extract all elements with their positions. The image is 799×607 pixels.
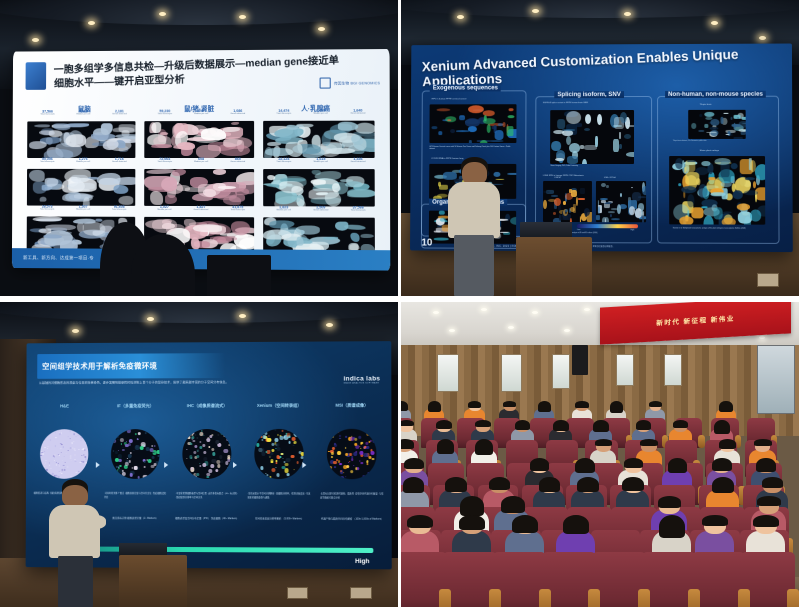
micrograph-speckle (502, 123, 505, 127)
attendee-hair (712, 477, 734, 493)
micrograph-speckle (610, 214, 611, 218)
cell-dot (58, 465, 60, 467)
cell-dot (187, 436, 190, 439)
micrograph-speckle (558, 120, 566, 130)
micrograph-speckle (737, 204, 750, 211)
micrograph-speckle (450, 130, 455, 134)
slide-footer-text: 新工具、新方向、达成第一项目·专 (23, 256, 94, 262)
attendee-hair (719, 439, 736, 449)
cell-dot (375, 467, 377, 471)
micrograph-speckle (597, 115, 602, 126)
cell-dot (353, 452, 357, 456)
attendee-hair (649, 401, 662, 407)
cell-dot (45, 430, 46, 431)
cell-dot (208, 446, 210, 448)
cell-dot (85, 433, 87, 435)
micrograph-speckle (741, 131, 746, 136)
cell-dot (127, 429, 130, 432)
cell-dot (193, 451, 196, 454)
cell-dot (45, 459, 47, 461)
metric-label: Genes detected (350, 113, 365, 116)
cell-dot (294, 441, 297, 444)
tissue-image (263, 121, 374, 158)
cell-dot (151, 455, 154, 458)
micrograph-speckle (703, 216, 713, 225)
presenter-arm-pointing (81, 515, 106, 529)
cell-dot (49, 464, 50, 465)
cell-dot (203, 451, 206, 454)
attendee-hair (468, 401, 481, 408)
cell-dot (194, 445, 197, 448)
cell-dot (328, 469, 332, 473)
cell-dot (83, 472, 85, 474)
attendee-hair (515, 420, 530, 430)
image-hpv-cervical (429, 105, 516, 144)
metric-label: Total transcripts (40, 161, 54, 164)
tissue-cell: 72,064Total transcripts608Median per cel… (144, 162, 254, 206)
metric-label: Total transcripts (112, 209, 126, 212)
micrograph-speckle (679, 217, 693, 225)
tissue-blob (231, 122, 239, 125)
cell-dot (373, 439, 377, 443)
cell-dot (284, 468, 288, 472)
cell-dot (43, 450, 44, 451)
cell-dot (197, 473, 200, 476)
metric-value: 1,086Genes detected (230, 109, 245, 116)
cell-dot (255, 472, 256, 473)
micrograph-speckle (631, 187, 633, 189)
cell-dot (201, 430, 202, 431)
micrograph-speckle (733, 191, 743, 200)
presenter-arm (476, 190, 499, 208)
tissue-blob (29, 171, 45, 183)
cell-dot (275, 475, 277, 477)
cell-dot (270, 475, 272, 477)
cell-dot (337, 451, 341, 455)
micrograph-speckle (508, 174, 517, 176)
cell-dot (203, 457, 207, 461)
cell-dot (69, 431, 70, 432)
micrograph-speckle (494, 131, 503, 140)
window (552, 354, 570, 390)
micrograph-speckle (438, 132, 442, 136)
cell-dot (117, 438, 119, 440)
metric-value: 55,056Total transcripts (40, 157, 54, 164)
tissue-blob (351, 233, 360, 242)
metric-label: Total transcripts (230, 210, 245, 213)
tissue-blob (268, 175, 276, 180)
cell-dot (131, 467, 132, 468)
metric-value: 2,181Genes detected (112, 109, 127, 116)
attendee-hair (407, 515, 433, 529)
cell-dot (85, 442, 86, 443)
cell-dot (209, 435, 212, 438)
cell-dot (54, 459, 55, 460)
cell-dot (189, 455, 192, 458)
projection-screen[interactable]: 传因生物 BGI GENOMICS 一胞多组学多信息共检—升级后数据展示—med… (12, 49, 391, 271)
micrograph-speckle (619, 193, 622, 198)
attendee-hair (595, 439, 612, 446)
cell-dot (41, 451, 42, 452)
attendee-hair (553, 420, 568, 431)
presenter-trousers (454, 235, 493, 296)
metric-value: 1,499Median per cell (314, 109, 328, 116)
tissue-blob (235, 188, 250, 195)
tissue-blob (112, 128, 134, 133)
micrograph-speckle (551, 195, 558, 197)
slide-title: 空间组学技术用于解析免疫微环境 (37, 360, 157, 371)
cell-dot (61, 432, 62, 434)
seat-armrest (439, 589, 451, 607)
cell-dot (360, 448, 361, 449)
window (501, 354, 523, 393)
cell-dot (144, 472, 145, 473)
attendee-hair (753, 515, 779, 527)
bullet-column: ·无需标记即可检测代谢物、脂质等 ·提供空间代谢分布图谱 ·与形态学数据可联合分… (320, 493, 384, 539)
cell-dot (55, 437, 56, 438)
cell-dot (84, 475, 85, 476)
image-tilapia-brain (688, 111, 746, 140)
cell-dot (43, 441, 44, 442)
cell-dot (152, 474, 153, 475)
attendee-hair (501, 496, 525, 513)
cell-dot (61, 459, 62, 460)
image-loh6-wt (543, 181, 593, 223)
cell-dot (85, 457, 87, 459)
metric-label: Median per cell (314, 113, 328, 116)
micrograph-speckle (678, 183, 681, 186)
tissue-cell: 59,230Total transcripts895Median per cel… (144, 114, 254, 158)
window (664, 354, 682, 387)
tissue-blob (332, 184, 340, 193)
cell-dot (73, 440, 74, 441)
cell-dot (60, 447, 62, 449)
metric-value: 1,716Genes detected (112, 157, 127, 164)
attendee-hair (754, 439, 771, 446)
micrograph-speckle (605, 219, 606, 223)
cell-dot (62, 471, 63, 472)
cell-dot (55, 464, 57, 466)
cell-dot (46, 474, 48, 476)
attendee-hair (403, 477, 425, 493)
attendee-hair (624, 458, 644, 468)
cell-dot (48, 461, 50, 463)
micrograph-speckle (691, 208, 703, 219)
slide-title-bar: 空间组学技术用于解析免疫微环境 (37, 353, 225, 379)
cell-dot (70, 476, 71, 477)
cell-dot (331, 472, 335, 476)
cell-dot (54, 445, 56, 447)
micrograph-speckle (562, 201, 566, 205)
attendee-hair (563, 515, 589, 534)
cell-dot (208, 469, 212, 473)
micrograph-speckle (566, 111, 580, 124)
ceiling-light (481, 308, 487, 311)
metric-label: Median per cell (194, 162, 208, 165)
cell-dot (84, 432, 85, 433)
micrograph-speckle (722, 218, 736, 225)
wall-vent (757, 273, 779, 287)
micrograph-speckle (685, 160, 695, 172)
cell-dot (227, 459, 230, 462)
cell-dot (184, 430, 187, 433)
cell-dot (339, 463, 342, 466)
cell-dot (301, 444, 303, 446)
micrograph-speckle (568, 190, 572, 193)
banner-text: 新时代 新征程 新伟业 (656, 313, 734, 328)
tissue-blob (32, 217, 62, 222)
caption-maize: Maize plant embryo (700, 150, 719, 153)
tissue-blob (335, 222, 348, 231)
cell-dot (50, 476, 52, 478)
cell-dot (211, 459, 215, 463)
cell-dot (118, 465, 120, 467)
podium (516, 237, 592, 296)
tissue-blob (165, 196, 177, 205)
tissue-blob (285, 142, 302, 156)
micrograph-speckle (704, 112, 714, 117)
downlight (318, 27, 325, 31)
tissue-blob (73, 219, 96, 224)
metric-label: Total transcripts (276, 113, 291, 116)
metric-value: 1,615Median per cell (314, 157, 328, 164)
metric-value: 14,474Total transcripts (276, 109, 291, 116)
cell-dot (354, 437, 357, 440)
metric-value: 7,562Median per cell (76, 109, 90, 116)
ceiling-curve (0, 0, 398, 25)
cell-dot (192, 439, 195, 442)
presenter-head (62, 485, 87, 507)
cell-dot (122, 446, 124, 448)
cell-dot (189, 441, 192, 444)
metric-label: Genes detected (350, 162, 365, 165)
micrograph-speckle (606, 185, 608, 189)
cell-dot (343, 472, 344, 473)
metric-value: 865Genes detected (230, 157, 245, 164)
cell-dot (267, 438, 271, 442)
window (437, 354, 459, 393)
metric-value: 59,230Total transcripts (158, 109, 172, 116)
cell-dot (275, 429, 277, 431)
micrograph-speckle (731, 164, 738, 170)
cell-dot (45, 436, 46, 437)
cell-dot (228, 474, 232, 478)
cell-dot (157, 468, 159, 470)
cell-dot (362, 475, 365, 478)
cell-dot (120, 438, 124, 442)
cell-dot (349, 453, 352, 456)
micrograph-speckle (731, 117, 733, 120)
panel-bottom-left-slide-immune[interactable]: 空间组学技术用于解析免疫微环境 从基础的对细胞形态的观察与位置的简单染色，逐步发… (0, 302, 398, 607)
cell-dot (75, 459, 76, 460)
doorway (757, 345, 795, 414)
cell-dot (270, 460, 272, 462)
micrograph-speckle (750, 210, 762, 222)
image-gbm-brain (550, 111, 634, 165)
cell-dot (78, 449, 79, 450)
cell-dot (54, 454, 55, 456)
cell-dot (186, 458, 187, 459)
cell-dot (373, 435, 377, 439)
cell-dot (129, 460, 131, 462)
cell-dot (186, 448, 187, 449)
metric-value: 37,566Total transcripts (351, 206, 366, 213)
cell-dot (74, 450, 75, 451)
cell-dot (228, 443, 230, 445)
attendee-hair (539, 477, 561, 492)
cell-dot (202, 444, 205, 447)
metric-label: Total transcripts (40, 209, 54, 212)
cell-dot (331, 456, 333, 458)
cell-dot (293, 431, 296, 434)
micrograph-speckle (554, 198, 561, 206)
micrograph-speckle (613, 139, 619, 152)
cell-dot (262, 435, 266, 439)
cell-dot (47, 432, 48, 433)
micrograph-speckle (469, 140, 472, 144)
micrograph-speckle (704, 124, 708, 128)
cell-dot (115, 451, 117, 453)
cell-dot (64, 469, 66, 471)
cell-dot (197, 437, 199, 439)
attendee-hair (714, 420, 729, 434)
bullet-column: ·可量化检测细胞表型与空间位置 ·支持多指标联合（40+ 标志物） ·组织级别分… (175, 493, 238, 538)
cell-dot (260, 466, 263, 469)
micrograph-speckle (510, 217, 516, 225)
cell-dot (223, 434, 225, 436)
cell-dot (44, 463, 45, 464)
cell-dot (70, 459, 71, 460)
cell-dot (359, 450, 363, 454)
seat-armrest (688, 589, 700, 607)
micrograph-speckle (436, 109, 450, 112)
cell-dot (78, 471, 79, 472)
metric-value: 1,507Median per cell (76, 205, 90, 212)
cell-dot (354, 442, 357, 445)
cell-dot (203, 434, 205, 436)
cell-dot (125, 462, 128, 465)
attendee-hair (459, 515, 485, 530)
tissue-blob (39, 228, 52, 233)
cell-dot (76, 435, 77, 436)
downlight (239, 15, 246, 19)
attendee-hair (404, 458, 424, 470)
cell-dot (81, 454, 82, 455)
micrograph-speckle (687, 194, 694, 207)
modality-label: IF（多重免疫荧光） (104, 403, 167, 409)
attendee-hair (401, 401, 408, 412)
metric-value: 1,509Genes detected (313, 205, 328, 212)
micrograph-speckle (576, 123, 582, 127)
flow-arrow-icon (96, 461, 100, 467)
cell-dot (62, 446, 64, 448)
cell-dot (183, 467, 185, 469)
attendee-hair (437, 439, 454, 454)
micrograph-speckle (619, 144, 621, 149)
cell-dot (47, 447, 48, 448)
cell-dot (207, 437, 208, 438)
cell-dot (134, 433, 136, 435)
downlight (624, 12, 631, 16)
cell-dot (301, 455, 304, 458)
downlight (711, 21, 718, 25)
cell-dot (60, 443, 61, 444)
micrograph-speckle (713, 208, 723, 220)
metric-row: 22,124Total transcripts1,615Median per c… (265, 157, 376, 164)
cell-dot (334, 466, 336, 468)
attendee-hair (575, 401, 588, 408)
attendee-hair (538, 401, 551, 412)
metric-row: 59,230Total transcripts895Median per cel… (147, 109, 257, 116)
seat-armrest (638, 589, 650, 607)
tissue-blob (114, 177, 136, 185)
cell-dot (360, 461, 363, 464)
cell-dot (226, 438, 228, 440)
cell-dot (277, 434, 278, 435)
tissue-blob (193, 224, 223, 232)
cell-dot (57, 462, 58, 463)
cell-dot (276, 442, 280, 446)
micrograph-speckle (742, 117, 746, 120)
metric-label: Genes detected (230, 162, 245, 165)
cell-dot (345, 447, 347, 449)
metric-row: 1,823Median per cell1,509Genes detected3… (265, 205, 377, 213)
cell-dot (145, 431, 147, 433)
cell-dot (74, 448, 75, 449)
micrograph-speckle (569, 143, 580, 153)
presenter-trousers (58, 556, 94, 607)
metric-label: Total transcripts (158, 114, 172, 117)
cell-dot (286, 458, 290, 462)
panel-bottom-right-audience[interactable]: 新时代 新征程 新伟业 (401, 302, 799, 607)
bgi-block-logo-icon (26, 62, 46, 90)
micrograph-speckle (456, 131, 469, 132)
micrograph-speckle (709, 177, 716, 180)
cell-dot (65, 467, 66, 468)
window (616, 354, 634, 387)
panel-top-right-slide-xenium[interactable]: Xenium Advanced Customization Enables Un… (401, 0, 799, 296)
attendee-hair (475, 439, 492, 455)
tissue-blob (338, 122, 359, 131)
presenter-shirt (49, 505, 100, 559)
tissue-blob (177, 143, 195, 151)
bullet-column: ·可同时检测多个蛋白 ·细胞亚群定量与空间共定位 ·免疫细胞浸润评估 (104, 493, 167, 538)
micrograph-speckle (567, 156, 578, 163)
modality-label: H&E (33, 403, 95, 408)
attendee-hair (530, 458, 550, 471)
attendee-hair (610, 401, 623, 413)
cell-dot (339, 437, 340, 438)
tissue-image (144, 121, 254, 158)
tissue-blob (213, 170, 226, 176)
presenter (44, 479, 108, 607)
cell-dot (156, 431, 158, 433)
cell-dot (74, 454, 76, 456)
cell-dot (69, 447, 71, 449)
cell-dot (61, 472, 63, 474)
metric-value: 1,640Genes detected (350, 109, 365, 116)
tissue-image (144, 169, 254, 206)
cell-dot (271, 468, 275, 472)
cell-dot (46, 469, 48, 471)
tissue-image (263, 169, 375, 206)
panel-top-left-slide-multiomics[interactable]: 传因生物 BGI GENOMICS 一胞多组学多信息共检—升级后数据展示—med… (0, 0, 398, 296)
cell-dot (336, 458, 338, 460)
metric-label: Genes detected (112, 114, 127, 117)
cell-dot (145, 447, 149, 451)
cell-dot (138, 437, 139, 438)
cell-dot (138, 476, 140, 478)
